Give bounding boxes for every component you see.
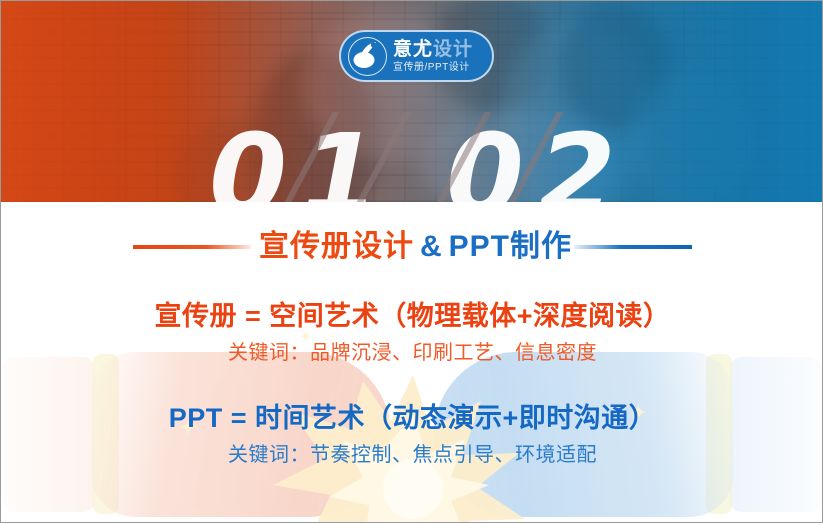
page-title-orange: 宣传册设计 bbox=[259, 230, 414, 263]
page-title-ampersand: & bbox=[414, 230, 449, 263]
banner-numerals: 01 02 bbox=[1, 120, 823, 202]
logo-text: 意尤设计 宣传册/PPT设计 bbox=[393, 40, 473, 73]
block-ppt-main: PPT = 时间艺术（动态演示+即时沟通） bbox=[1, 404, 823, 434]
body-area: ✦ ✦ ✦ ✦ 宣传册设计&PPT制作 宣传册 = 空间艺术（物理载体+深度阅读… bbox=[1, 202, 823, 523]
headline-rule-right bbox=[574, 245, 692, 249]
logo-title-light: 设计 bbox=[433, 39, 473, 60]
page-title-blue: PPT制作 bbox=[449, 230, 572, 263]
block-brochure-keywords: 关键词：品牌沉浸、印刷工艺、信息密度 bbox=[1, 342, 823, 364]
page-title: 宣传册设计&PPT制作 bbox=[259, 232, 572, 262]
logo-subtitle: 宣传册/PPT设计 bbox=[393, 63, 473, 73]
header-banner: 01 02 意尤设计 宣传册/PPT设计 bbox=[1, 1, 823, 202]
brush-stroke-logo-icon bbox=[348, 37, 387, 76]
headline-row: 宣传册设计&PPT制作 bbox=[1, 232, 823, 262]
block-brochure-main: 宣传册 = 空间艺术（物理载体+深度阅读） bbox=[1, 302, 823, 332]
content: 宣传册设计&PPT制作 宣传册 = 空间艺术（物理载体+深度阅读） 关键词：品牌… bbox=[1, 202, 823, 523]
block-ppt-keywords: 关键词：节奏控制、焦点引导、环境适配 bbox=[1, 444, 823, 466]
content-block-brochure: 宣传册 = 空间艺术（物理载体+深度阅读） 关键词：品牌沉浸、印刷工艺、信息密度 bbox=[1, 302, 823, 364]
logo-badge[interactable]: 意尤设计 宣传册/PPT设计 bbox=[339, 30, 494, 82]
content-block-ppt: PPT = 时间艺术（动态演示+即时沟通） 关键词：节奏控制、焦点引导、环境适配 bbox=[1, 404, 823, 466]
logo-title: 意尤设计 bbox=[393, 40, 473, 59]
slide: 01 02 意尤设计 宣传册/PPT设计 bbox=[0, 0, 823, 523]
headline-rule-left bbox=[133, 245, 251, 249]
logo-title-bold: 意尤 bbox=[393, 39, 433, 60]
